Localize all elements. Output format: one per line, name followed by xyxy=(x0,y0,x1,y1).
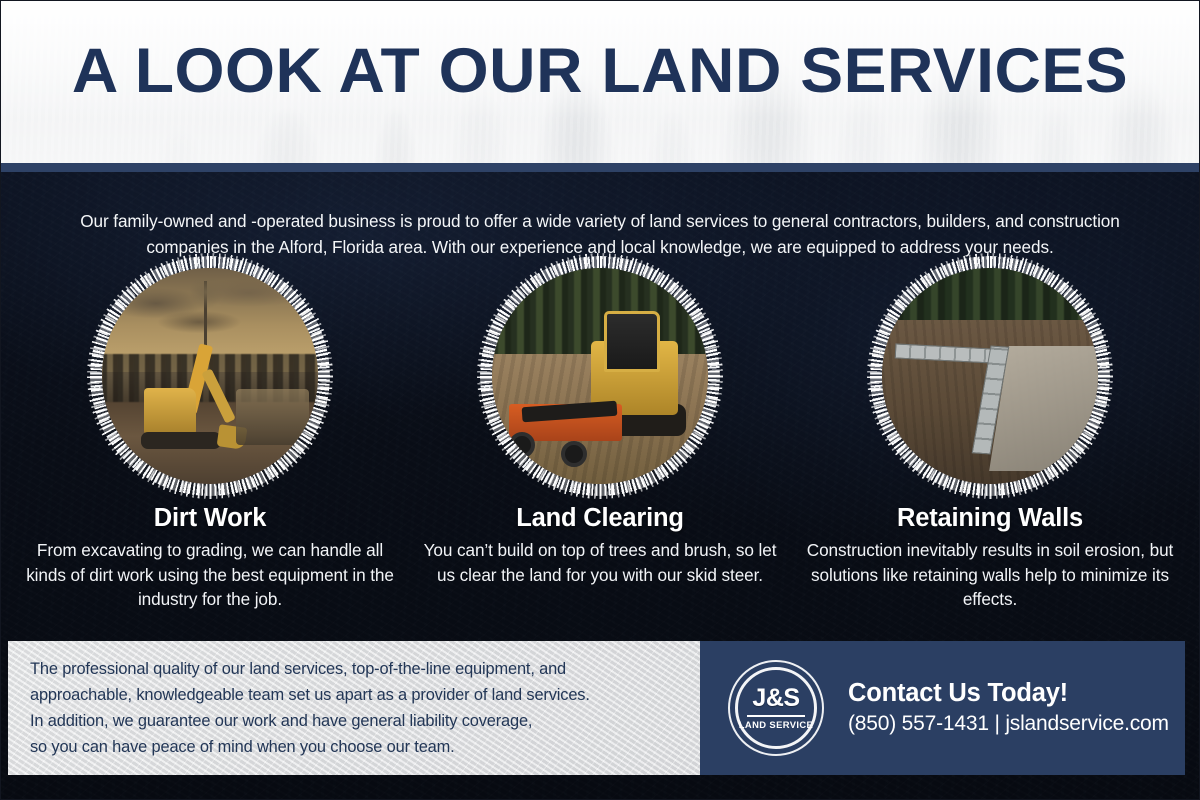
service-description: From excavating to grading, we can handl… xyxy=(26,538,394,612)
photo-ring-retaining-walls xyxy=(876,262,1104,490)
contact-block: Contact Us Today! (850) 557-1431 | jslan… xyxy=(848,679,1169,738)
service-description: Construction inevitably results in soil … xyxy=(806,538,1174,612)
attachment-wheel xyxy=(561,441,587,467)
excavator-arm xyxy=(201,368,235,423)
service-description: You can’t build on top of trees and brus… xyxy=(416,538,784,587)
service-title: Dirt Work xyxy=(154,504,267,533)
excavator-at-sunset-photo xyxy=(102,268,318,484)
excavator-cab xyxy=(144,388,197,434)
second-machine xyxy=(236,389,309,445)
land-services-poster: A LOOK AT OUR LAND SERVICES Our family-o… xyxy=(0,0,1200,800)
background-trees xyxy=(882,268,1098,324)
poster-header: A LOOK AT OUR LAND SERVICES xyxy=(0,0,1200,163)
header-divider-rule xyxy=(0,163,1200,172)
service-card-dirt-work: Dirt Work From excavating to grading, we… xyxy=(16,262,404,612)
contact-heading: Contact Us Today! xyxy=(848,679,1169,708)
logo-monogram: J&S xyxy=(752,686,799,711)
skid-steer-cab xyxy=(604,311,660,371)
page-title: A LOOK AT OUR LAND SERVICES xyxy=(0,40,1200,103)
service-title: Land Clearing xyxy=(516,504,683,533)
skid-steer-with-attachment-photo xyxy=(492,268,708,484)
excavator-track xyxy=(141,432,221,450)
footer-blurb-line: The professional quality of our land ser… xyxy=(30,656,590,682)
footer-contact-panel: J&S LAND SERVICE Contact Us Today! (850)… xyxy=(700,641,1185,775)
logo-divider xyxy=(747,715,805,717)
js-land-service-logo: J&S LAND SERVICE xyxy=(728,660,824,756)
service-card-retaining-walls: Retaining Walls Construction inevitably … xyxy=(796,262,1184,612)
concrete-block-retaining-wall-photo xyxy=(882,268,1098,484)
footer-blurb: The professional quality of our land ser… xyxy=(8,656,590,760)
photo-ring-dirt-work xyxy=(96,262,324,490)
service-title: Retaining Walls xyxy=(897,504,1083,533)
contact-details[interactable]: (850) 557-1431 | jslandservice.com xyxy=(848,710,1169,737)
footer-blurb-line: approachable, knowledgeable team set us … xyxy=(30,682,590,708)
service-card-land-clearing: Land Clearing You can’t build on top of … xyxy=(406,262,794,612)
logo-subtitle: LAND SERVICE xyxy=(739,720,813,729)
services-row: Dirt Work From excavating to grading, we… xyxy=(0,262,1200,612)
footer-blurb-line: In addition, we guarantee our work and h… xyxy=(30,708,590,734)
footer-blurb-panel: The professional quality of our land ser… xyxy=(8,641,700,775)
footer-blurb-line: so you can have peace of mind when you c… xyxy=(30,734,590,760)
photo-ring-land-clearing xyxy=(486,262,714,490)
